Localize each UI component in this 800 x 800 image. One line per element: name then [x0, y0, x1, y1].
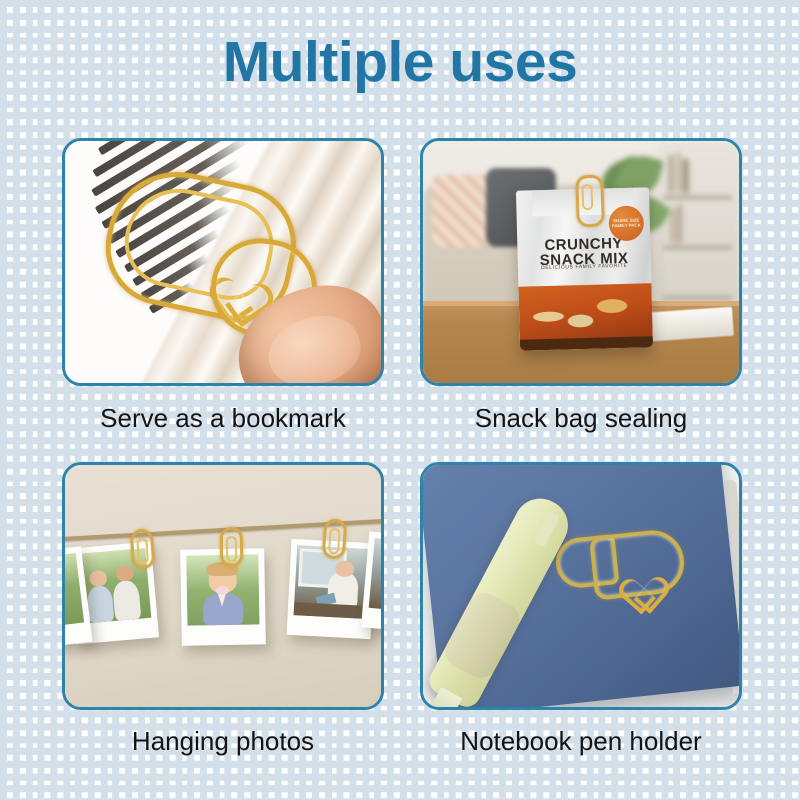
caption-snack-bag: Snack bag sealing: [420, 403, 742, 434]
clip-photo-couple: [130, 528, 156, 570]
scene-bookmark: [65, 141, 381, 383]
infographic-sheet: Multiple uses: [0, 0, 800, 800]
panel-bookmark[interactable]: [62, 138, 384, 386]
thumbnail-plate: [260, 306, 368, 386]
panel-snack-bag[interactable]: CRUNCHY SNACK MIX DELICIOUS FAMILY FAVOR…: [420, 138, 742, 386]
photo-image-child: [186, 554, 259, 625]
scene-snack-bag: CRUNCHY SNACK MIX DELICIOUS FAMILY FAVOR…: [423, 141, 739, 383]
panel-notebook-pen-holder[interactable]: [420, 462, 742, 710]
panel-hanging-photos[interactable]: [62, 462, 384, 710]
bag-subtitle: DELICIOUS FAMILY FAVORITE: [526, 263, 643, 272]
clip-photo-reading: [322, 518, 348, 560]
scene-hanging-photos: [65, 465, 381, 707]
caption-bookmark: Serve as a bookmark: [62, 403, 384, 434]
caption-hanging-photos: Hanging photos: [62, 726, 384, 757]
bag-clip: [575, 174, 605, 227]
page-title: Multiple uses: [0, 33, 800, 93]
heart-clip-on-notebook: [556, 528, 676, 596]
clip-photo-child: [220, 527, 244, 567]
photo-image-edge-left: [62, 553, 84, 631]
scene-notebook: [423, 465, 739, 707]
caption-notebook-pen-holder: Notebook pen holder: [420, 726, 742, 757]
photo-image-edge-right: [369, 538, 384, 614]
heart-shape: [631, 561, 669, 596]
